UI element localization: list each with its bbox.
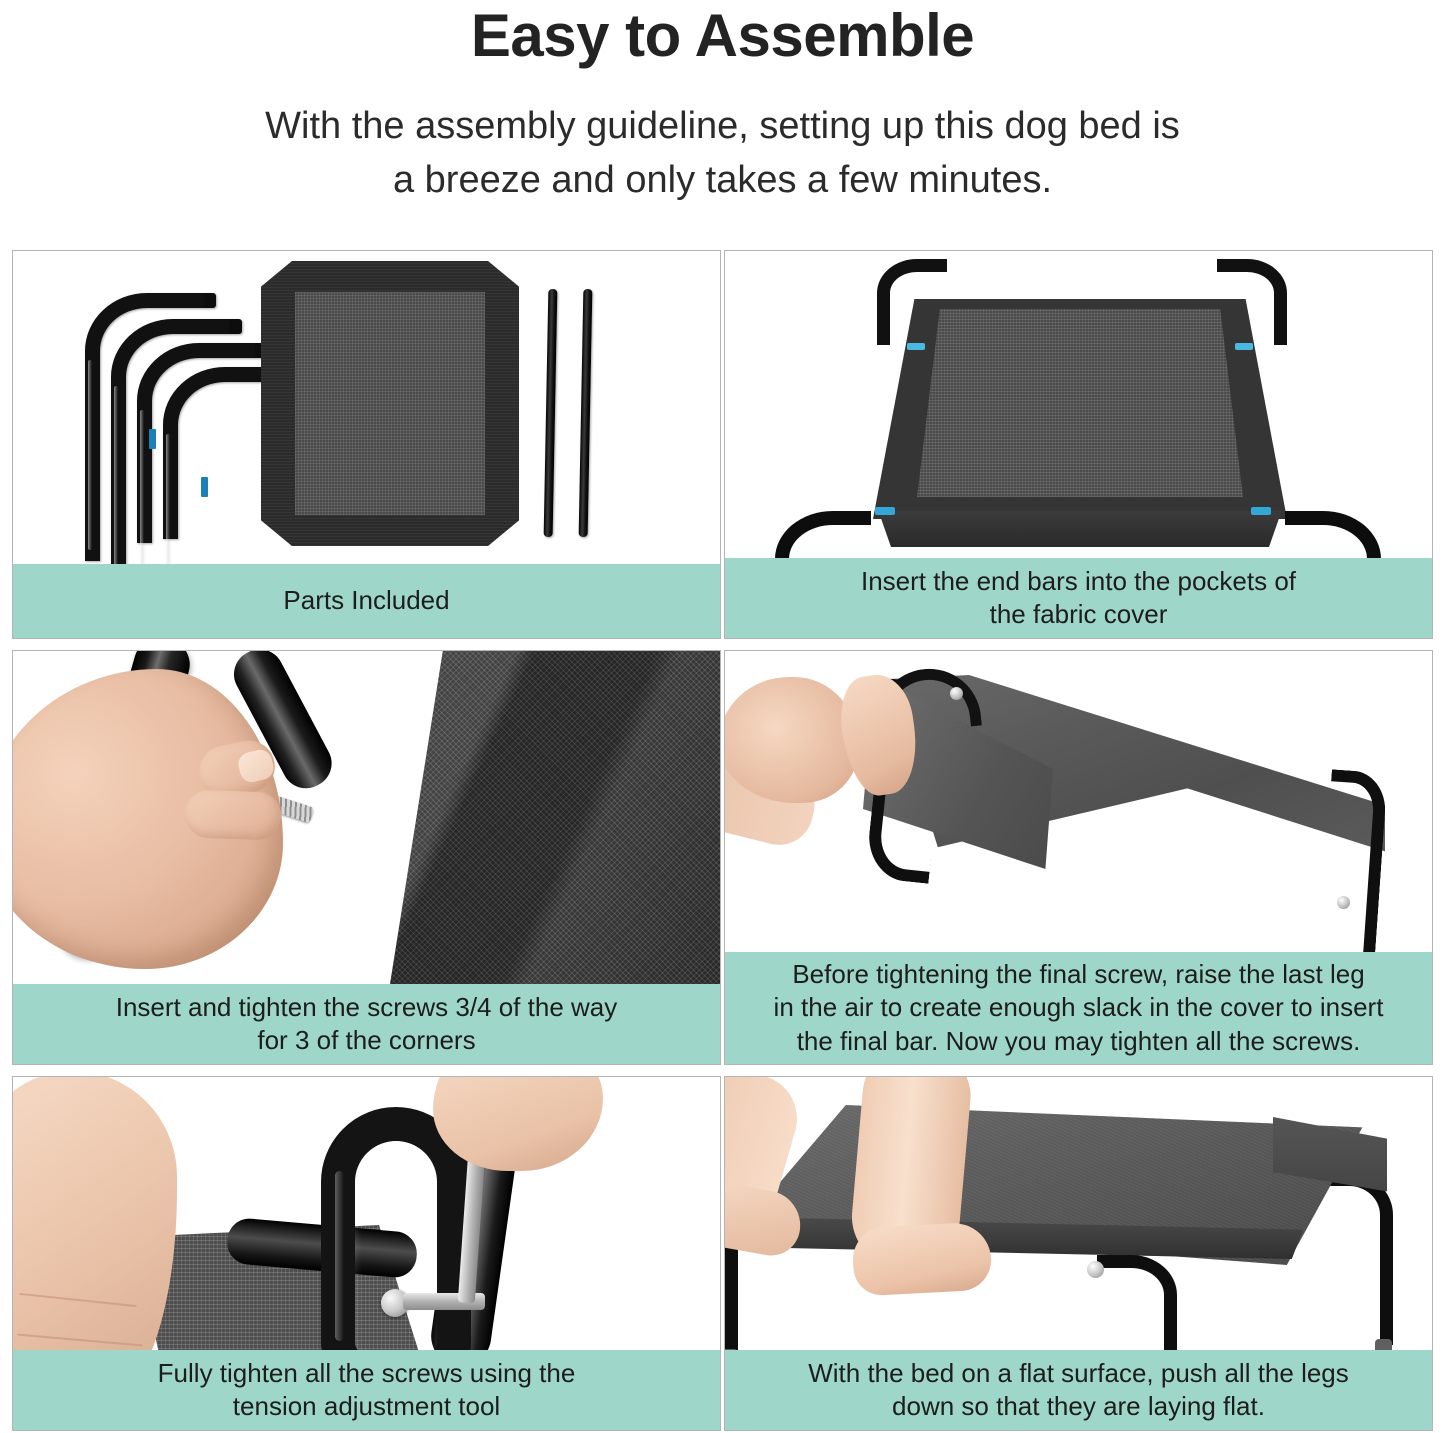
caption-line: Parts Included (283, 584, 449, 617)
hand-right (851, 1221, 992, 1296)
caption-line: tension adjustment tool (158, 1390, 576, 1423)
blue-label-tag (907, 343, 925, 350)
blue-label-tag (201, 477, 208, 497)
panel-raise-last-leg: Before tightening the final screw, raise… (724, 650, 1433, 1065)
screw-insertion-illustration (13, 651, 720, 984)
screw-head-icon (1087, 1261, 1104, 1278)
panel-caption: With the bed on a flat surface, push all… (725, 1350, 1432, 1430)
panel-caption: Fully tighten all the screws using the t… (13, 1350, 720, 1430)
wrench-illustration (13, 1077, 720, 1350)
caption-line: Insert the end bars into the pockets of (861, 565, 1296, 598)
blue-label-tag (1235, 343, 1253, 350)
panel-tighten-three-corners: Insert and tighten the screws 3/4 of the… (12, 650, 721, 1065)
blue-label-tag (149, 429, 156, 449)
panel-fully-tighten-screws: Fully tighten all the screws using the t… (12, 1076, 721, 1431)
panel-parts-included: Parts Included (12, 250, 721, 639)
caption-line: With the bed on a flat surface, push all… (808, 1357, 1349, 1390)
mesh-fabric-shading (390, 651, 720, 984)
leg-loop-icon (321, 1107, 471, 1387)
panel-caption: Insert the end bars into the pockets of … (725, 558, 1432, 638)
raise-leg-illustration (725, 651, 1432, 952)
panel-caption: Insert and tighten the screws 3/4 of the… (13, 984, 720, 1064)
subtitle-line-2: a breeze and only takes a few minutes. (150, 154, 1295, 208)
caption-line: Insert and tighten the screws 3/4 of the… (116, 991, 618, 1024)
finished-bed-illustration (725, 1077, 1432, 1350)
bed-frame-illustration (725, 251, 1432, 558)
caption-line: in the air to create enough slack in the… (774, 991, 1384, 1024)
panel-insert-end-bars: Insert the end bars into the pockets of … (724, 250, 1433, 639)
caption-line: Before tightening the final screw, raise… (774, 958, 1384, 991)
blue-label-tag (875, 507, 895, 515)
end-bar-icon (544, 289, 558, 537)
end-bar-icon (579, 289, 593, 537)
panel-push-legs-flat: With the bed on a flat surface, push all… (724, 1076, 1433, 1431)
parts-illustration (13, 251, 720, 564)
infographic-page: Easy to Assemble With the assembly guide… (0, 0, 1445, 1433)
fabric-mesh-center (295, 292, 486, 514)
hand-left (724, 677, 859, 803)
caption-line: down so that they are laying flat. (808, 1390, 1349, 1423)
fabric-cover-icon (261, 261, 519, 546)
bed-leg-right-icon (1321, 1173, 1393, 1345)
panel-caption: Parts Included (13, 564, 720, 638)
caption-line: Fully tighten all the screws using the (158, 1357, 576, 1390)
panel-caption: Before tightening the final screw, raise… (725, 952, 1432, 1064)
page-title: Easy to Assemble (0, 4, 1445, 68)
deck-mesh (917, 309, 1243, 497)
caption-line: the fabric cover (861, 598, 1296, 631)
finger (184, 789, 282, 840)
deck-skirt (870, 511, 1290, 547)
blue-label-tag (1251, 507, 1271, 515)
caption-line: the final bar. Now you may tighten all t… (774, 1025, 1384, 1058)
screw-head-icon (950, 687, 963, 700)
screw-head-icon (1337, 896, 1350, 909)
header: Easy to Assemble With the assembly guide… (0, 0, 1445, 208)
page-subtitle: With the assembly guideline, setting up … (0, 100, 1445, 208)
steps-grid: Parts Included (12, 250, 1433, 1421)
caption-line: for 3 of the corners (116, 1024, 618, 1057)
subtitle-line-1: With the assembly guideline, setting up … (150, 100, 1295, 154)
bed-deck (873, 299, 1287, 519)
